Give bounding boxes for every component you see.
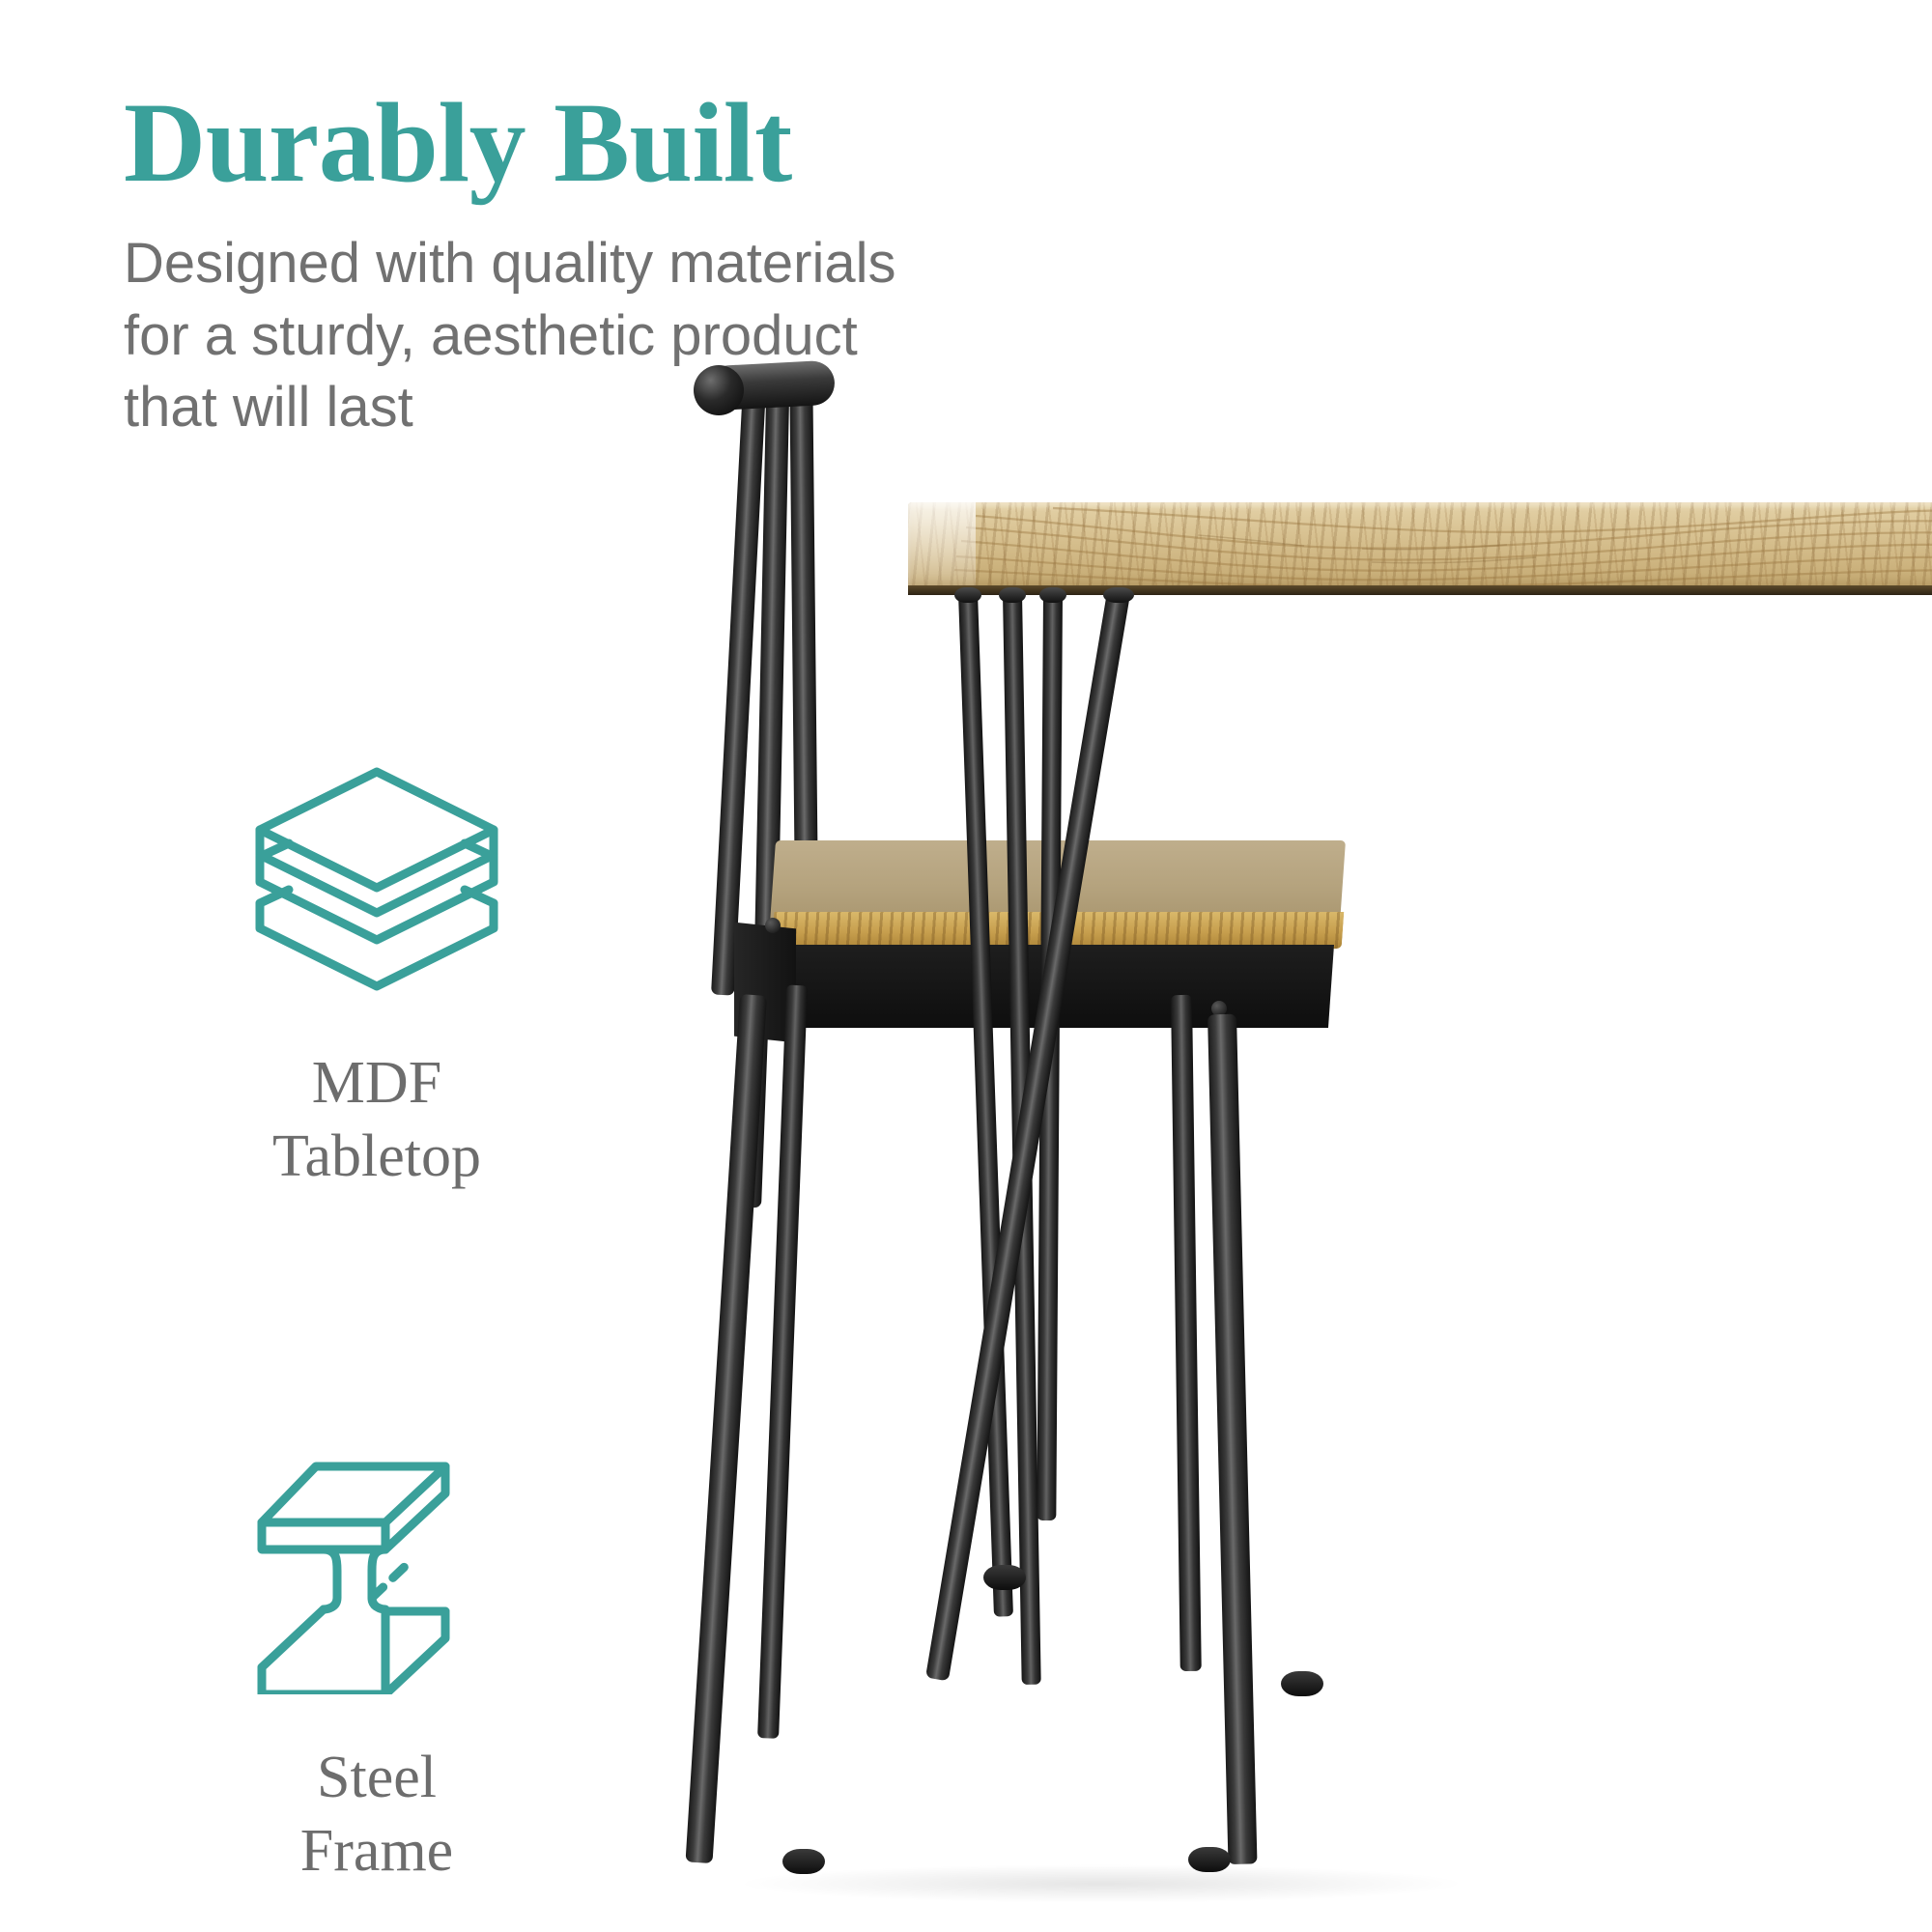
table-leg-collar-3 <box>1039 587 1066 603</box>
feature-steel-frame: Steel Frame <box>145 1429 609 1888</box>
feature-mdf-tabletop-label: MDF Tabletop <box>145 1047 609 1193</box>
table-leg-collar-angled <box>1103 587 1134 603</box>
table-foot-cap-mid <box>983 1565 1026 1590</box>
chair-rear-leg-far <box>1171 995 1202 1671</box>
product-photo <box>618 319 1932 1932</box>
feature-list: MDF Tabletop <box>145 734 609 1889</box>
floor-shadow <box>734 1864 1468 1903</box>
chair-front-leg-near <box>686 994 767 1863</box>
i-beam-icon <box>145 1429 609 1719</box>
table-top <box>908 502 1932 589</box>
chair-foot-cap-rear <box>1188 1847 1231 1872</box>
feature-steel-frame-label: Steel Frame <box>145 1742 609 1888</box>
table-top-sheen <box>908 502 976 589</box>
feature-mdf-tabletop: MDF Tabletop <box>145 734 609 1193</box>
feature-label-line-1: Steel <box>145 1742 609 1815</box>
chair-rear-leg-near <box>1207 1014 1257 1864</box>
page-title: Durably Built <box>124 85 1090 201</box>
feature-label-line-2: Frame <box>145 1815 609 1889</box>
marketing-image-canvas: Durably Built Designed with quality mate… <box>0 0 1932 1932</box>
subtitle-line-1: Designed with quality materials <box>124 228 1051 299</box>
table-foot-cap-front <box>1281 1671 1323 1696</box>
feature-label-line-1: MDF <box>145 1047 609 1121</box>
table-leg-collar-1 <box>954 587 981 603</box>
chair-back-ball-cap <box>694 365 744 415</box>
table-leg-collar-2 <box>999 587 1026 603</box>
chair-foot-cap-front <box>782 1849 825 1874</box>
feature-label-line-2: Tabletop <box>145 1121 609 1194</box>
layers-icon <box>145 734 609 1024</box>
seat-screw-left <box>765 918 781 933</box>
